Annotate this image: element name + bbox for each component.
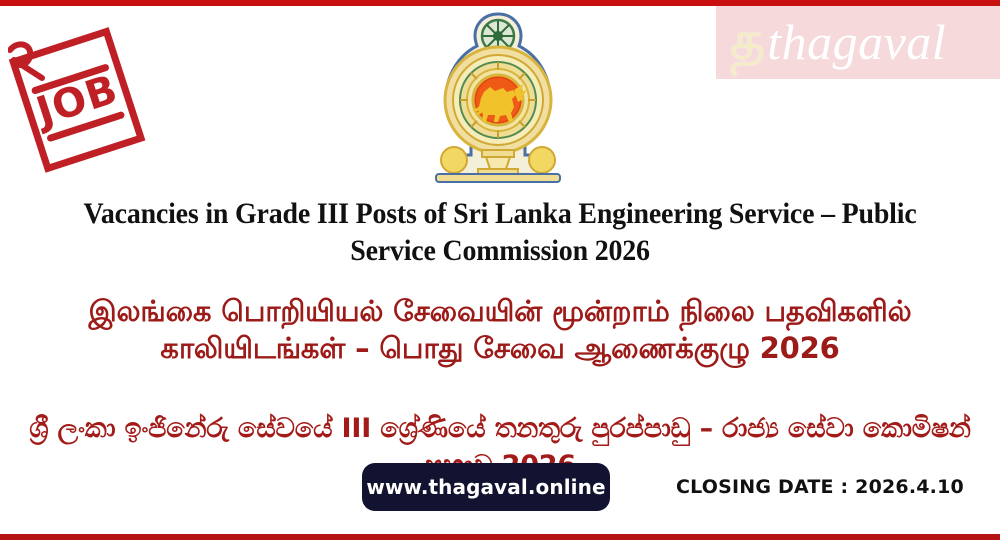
website-url-button[interactable]: www.thagaval.online	[362, 463, 610, 511]
page-title-english: Vacancies in Grade III Posts of Sri Lank…	[35, 196, 965, 269]
sri-lanka-national-emblem	[418, 8, 578, 186]
job-vacancy-poster: JOB	[0, 0, 1000, 545]
brand-wordmark: thagaval	[767, 17, 946, 67]
tamil-tha-logo-glyph: த	[730, 14, 765, 68]
poster-headings: Vacancies in Grade III Posts of Sri Lank…	[0, 196, 1000, 484]
job-pinned-note-icon: JOB	[8, 16, 148, 181]
page-title-tamil: இலங்கை பொறியியல் சேவையின் மூன்றாம் நிலை …	[0, 293, 1000, 367]
thagaval-brand-badge[interactable]: த thagaval	[716, 6, 1000, 79]
closing-date-label: CLOSING DATE : 2026.4.10	[676, 476, 964, 498]
bottom-red-rule	[0, 534, 1000, 540]
